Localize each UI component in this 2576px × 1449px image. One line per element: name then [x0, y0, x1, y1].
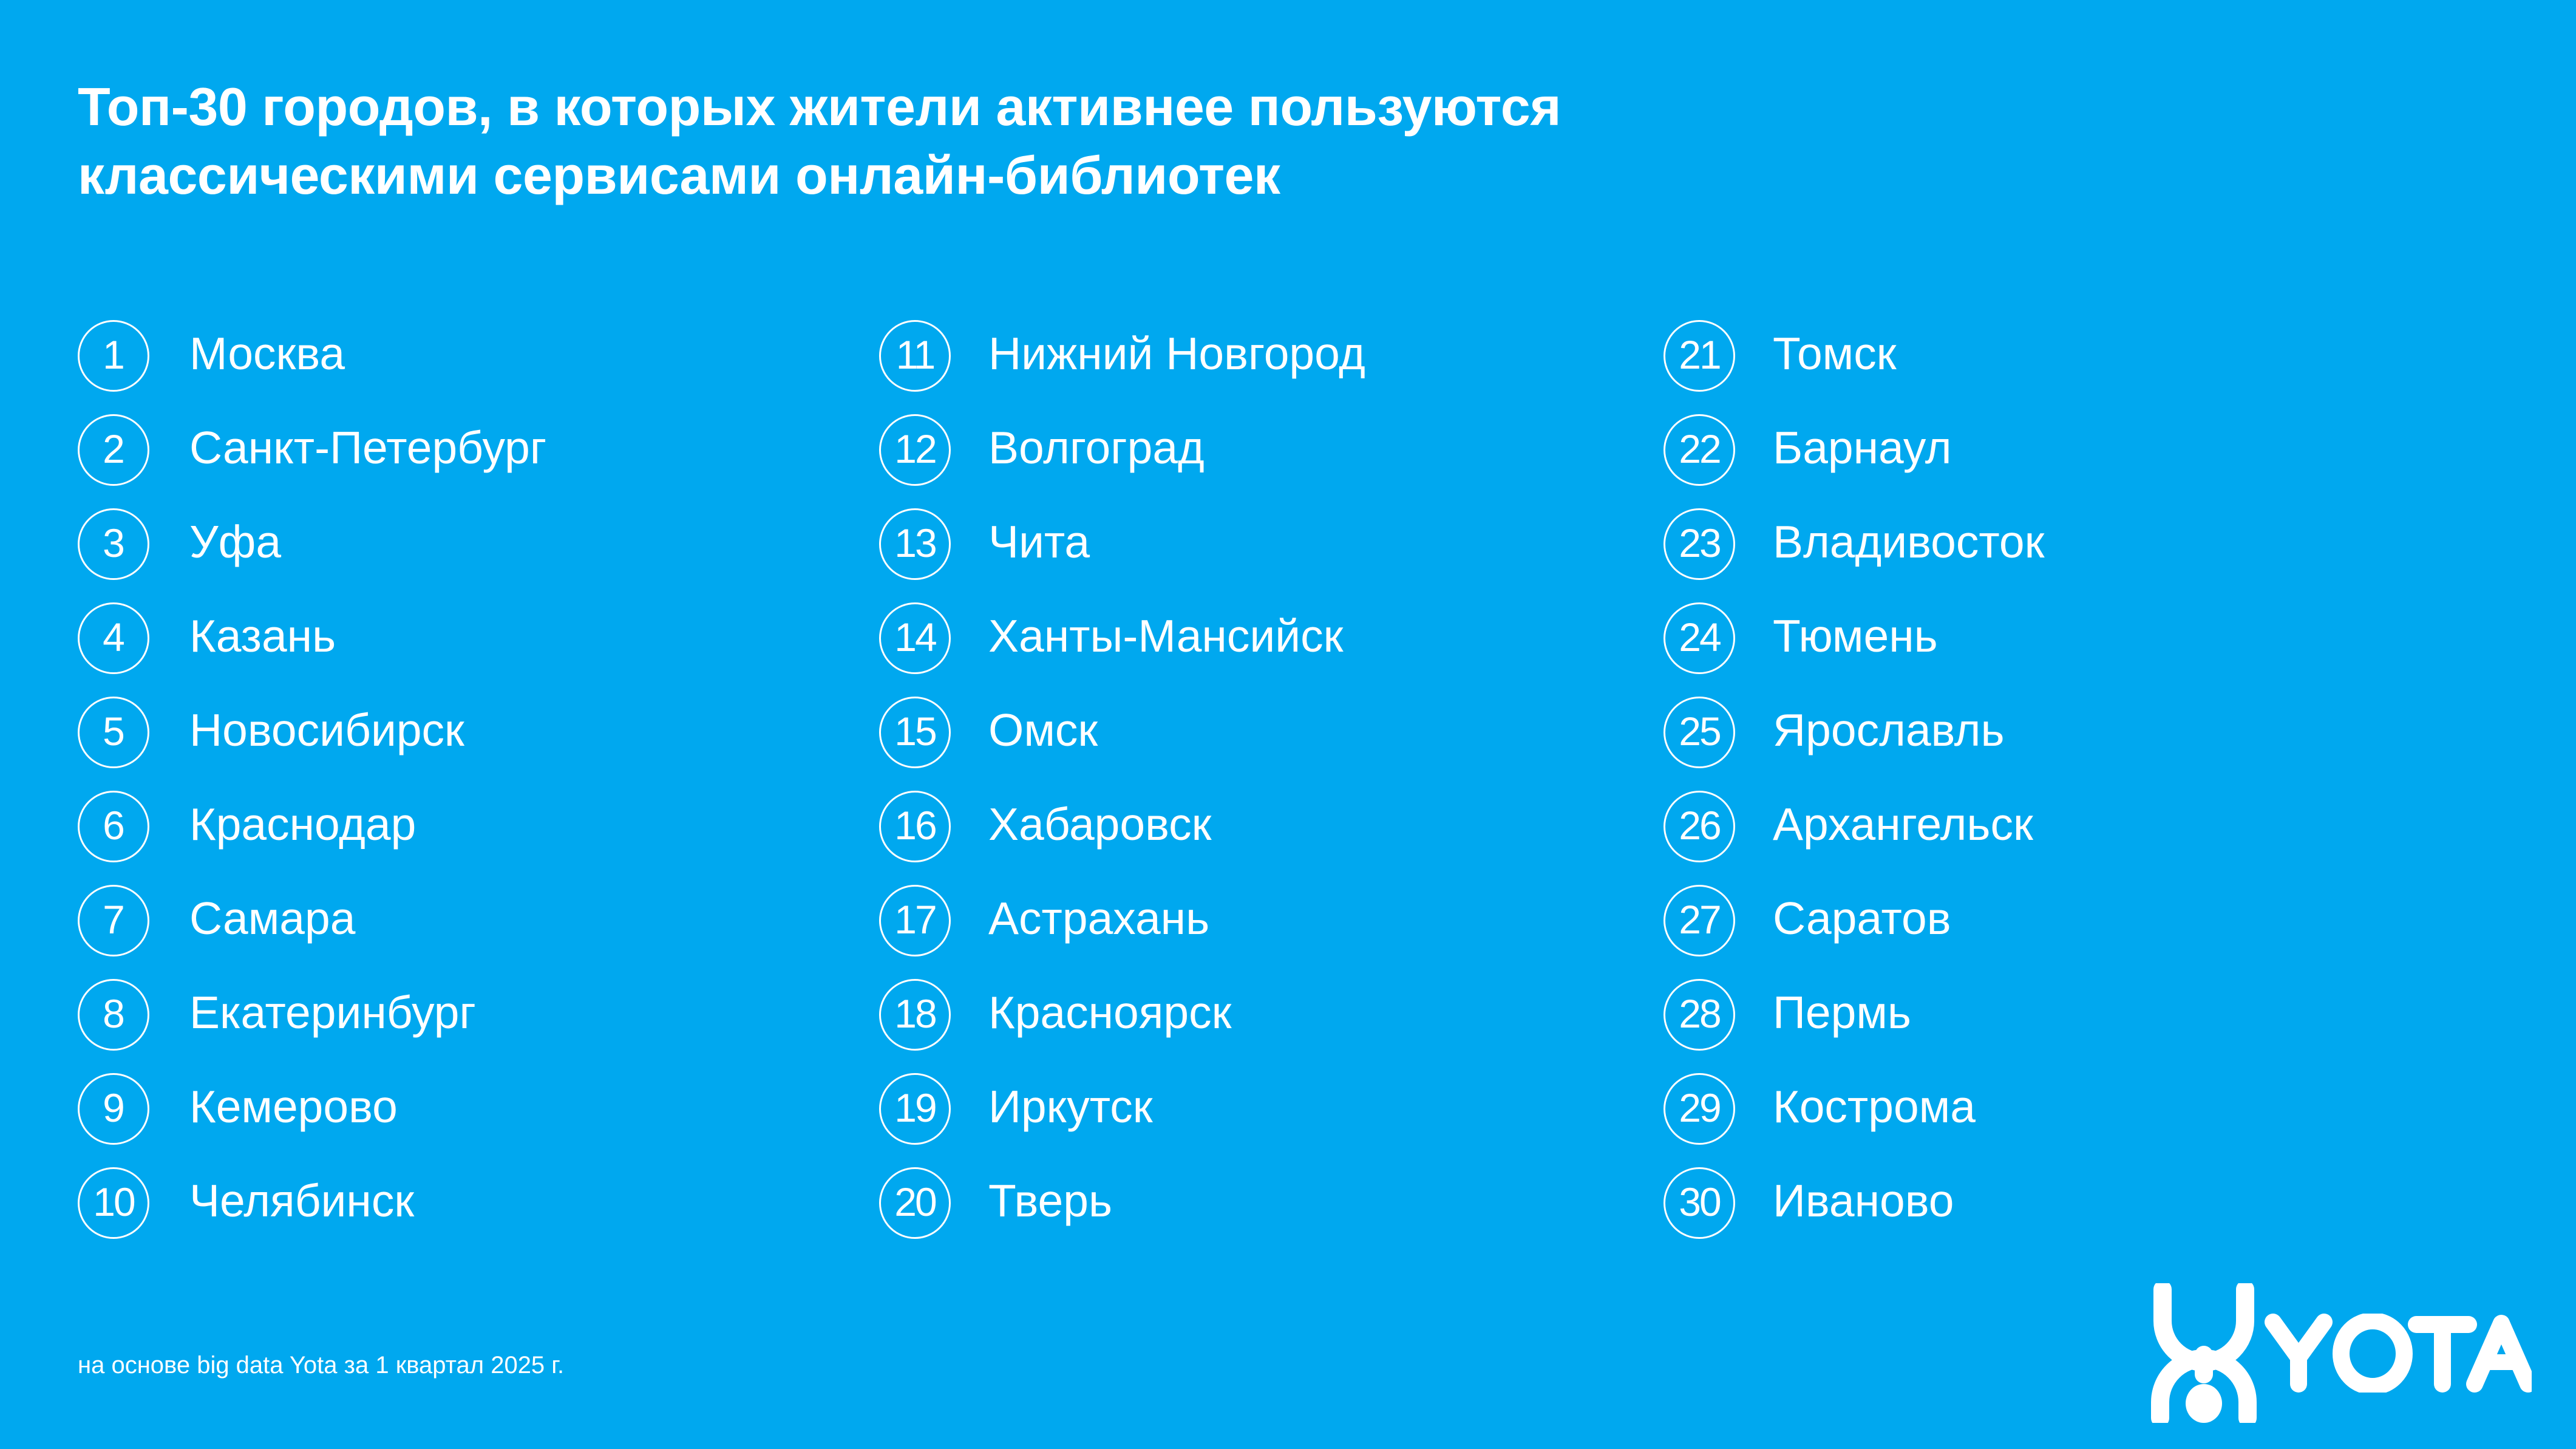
city-name: Тюмень [1773, 613, 1938, 659]
rank-number: 26 [1679, 805, 1719, 845]
page-title: Топ-30 городов, в которых жители активне… [78, 73, 2203, 210]
city-name: Томск [1773, 331, 1897, 377]
rank-badge: 25 [1664, 697, 1735, 768]
rank-number: 21 [1679, 335, 1719, 375]
rank-badge: 27 [1664, 885, 1735, 956]
rank-badge: 28 [1664, 979, 1735, 1051]
rank-number: 24 [1679, 617, 1719, 657]
city-name: Кострома [1773, 1084, 1976, 1130]
rank-badge: 21 [1664, 320, 1735, 392]
rank-number: 27 [1679, 899, 1719, 939]
rank-badge: 29 [1664, 1073, 1735, 1145]
page-title-line-1: Топ-30 городов, в которых жители активне… [78, 73, 2203, 141]
city-name: Пермь [1773, 990, 1911, 1035]
yota-logo-mark-icon [2149, 1283, 2258, 1423]
city-name: Иваново [1773, 1178, 1954, 1224]
rank-number: 29 [1679, 1088, 1719, 1128]
source-footnote: на основе big data Yota за 1 квартал 202… [78, 1353, 564, 1377]
infographic-page: { "background_color": "#00a8ef", "text_c… [0, 0, 2576, 1449]
yota-logo [2149, 1280, 2532, 1426]
rank-number: 22 [1679, 429, 1719, 469]
rank-number: 25 [1679, 711, 1719, 751]
city-name: Ярославль [1773, 707, 2005, 753]
city-name: Саратов [1773, 896, 1951, 941]
city-name: Архангельск [1773, 802, 2033, 847]
page-title-line-2: классическими сервисами онлайн-библиотек [78, 141, 2203, 210]
city-name: Барнаул [1773, 425, 1952, 471]
rank-number: 30 [1679, 1182, 1719, 1222]
ranking-columns: 1 Москва 2 Санкт-Петербург 3 Уфа 4 Казан… [0, 309, 2576, 1250]
rank-badge: 22 [1664, 414, 1735, 486]
rank-number: 28 [1679, 994, 1719, 1034]
rank-badge: 30 [1664, 1167, 1735, 1239]
rank-badge: 26 [1664, 791, 1735, 862]
yota-wordmark-icon [2265, 1314, 2532, 1393]
rank-number: 23 [1679, 523, 1719, 563]
ranking-column-3: 21 Томск 22 Барнаул 23 Владивосток 24 Тю… [0, 309, 1664, 1250]
city-name: Владивосток [1773, 519, 2044, 565]
rank-badge: 24 [1664, 602, 1735, 674]
rank-badge: 23 [1664, 508, 1735, 580]
